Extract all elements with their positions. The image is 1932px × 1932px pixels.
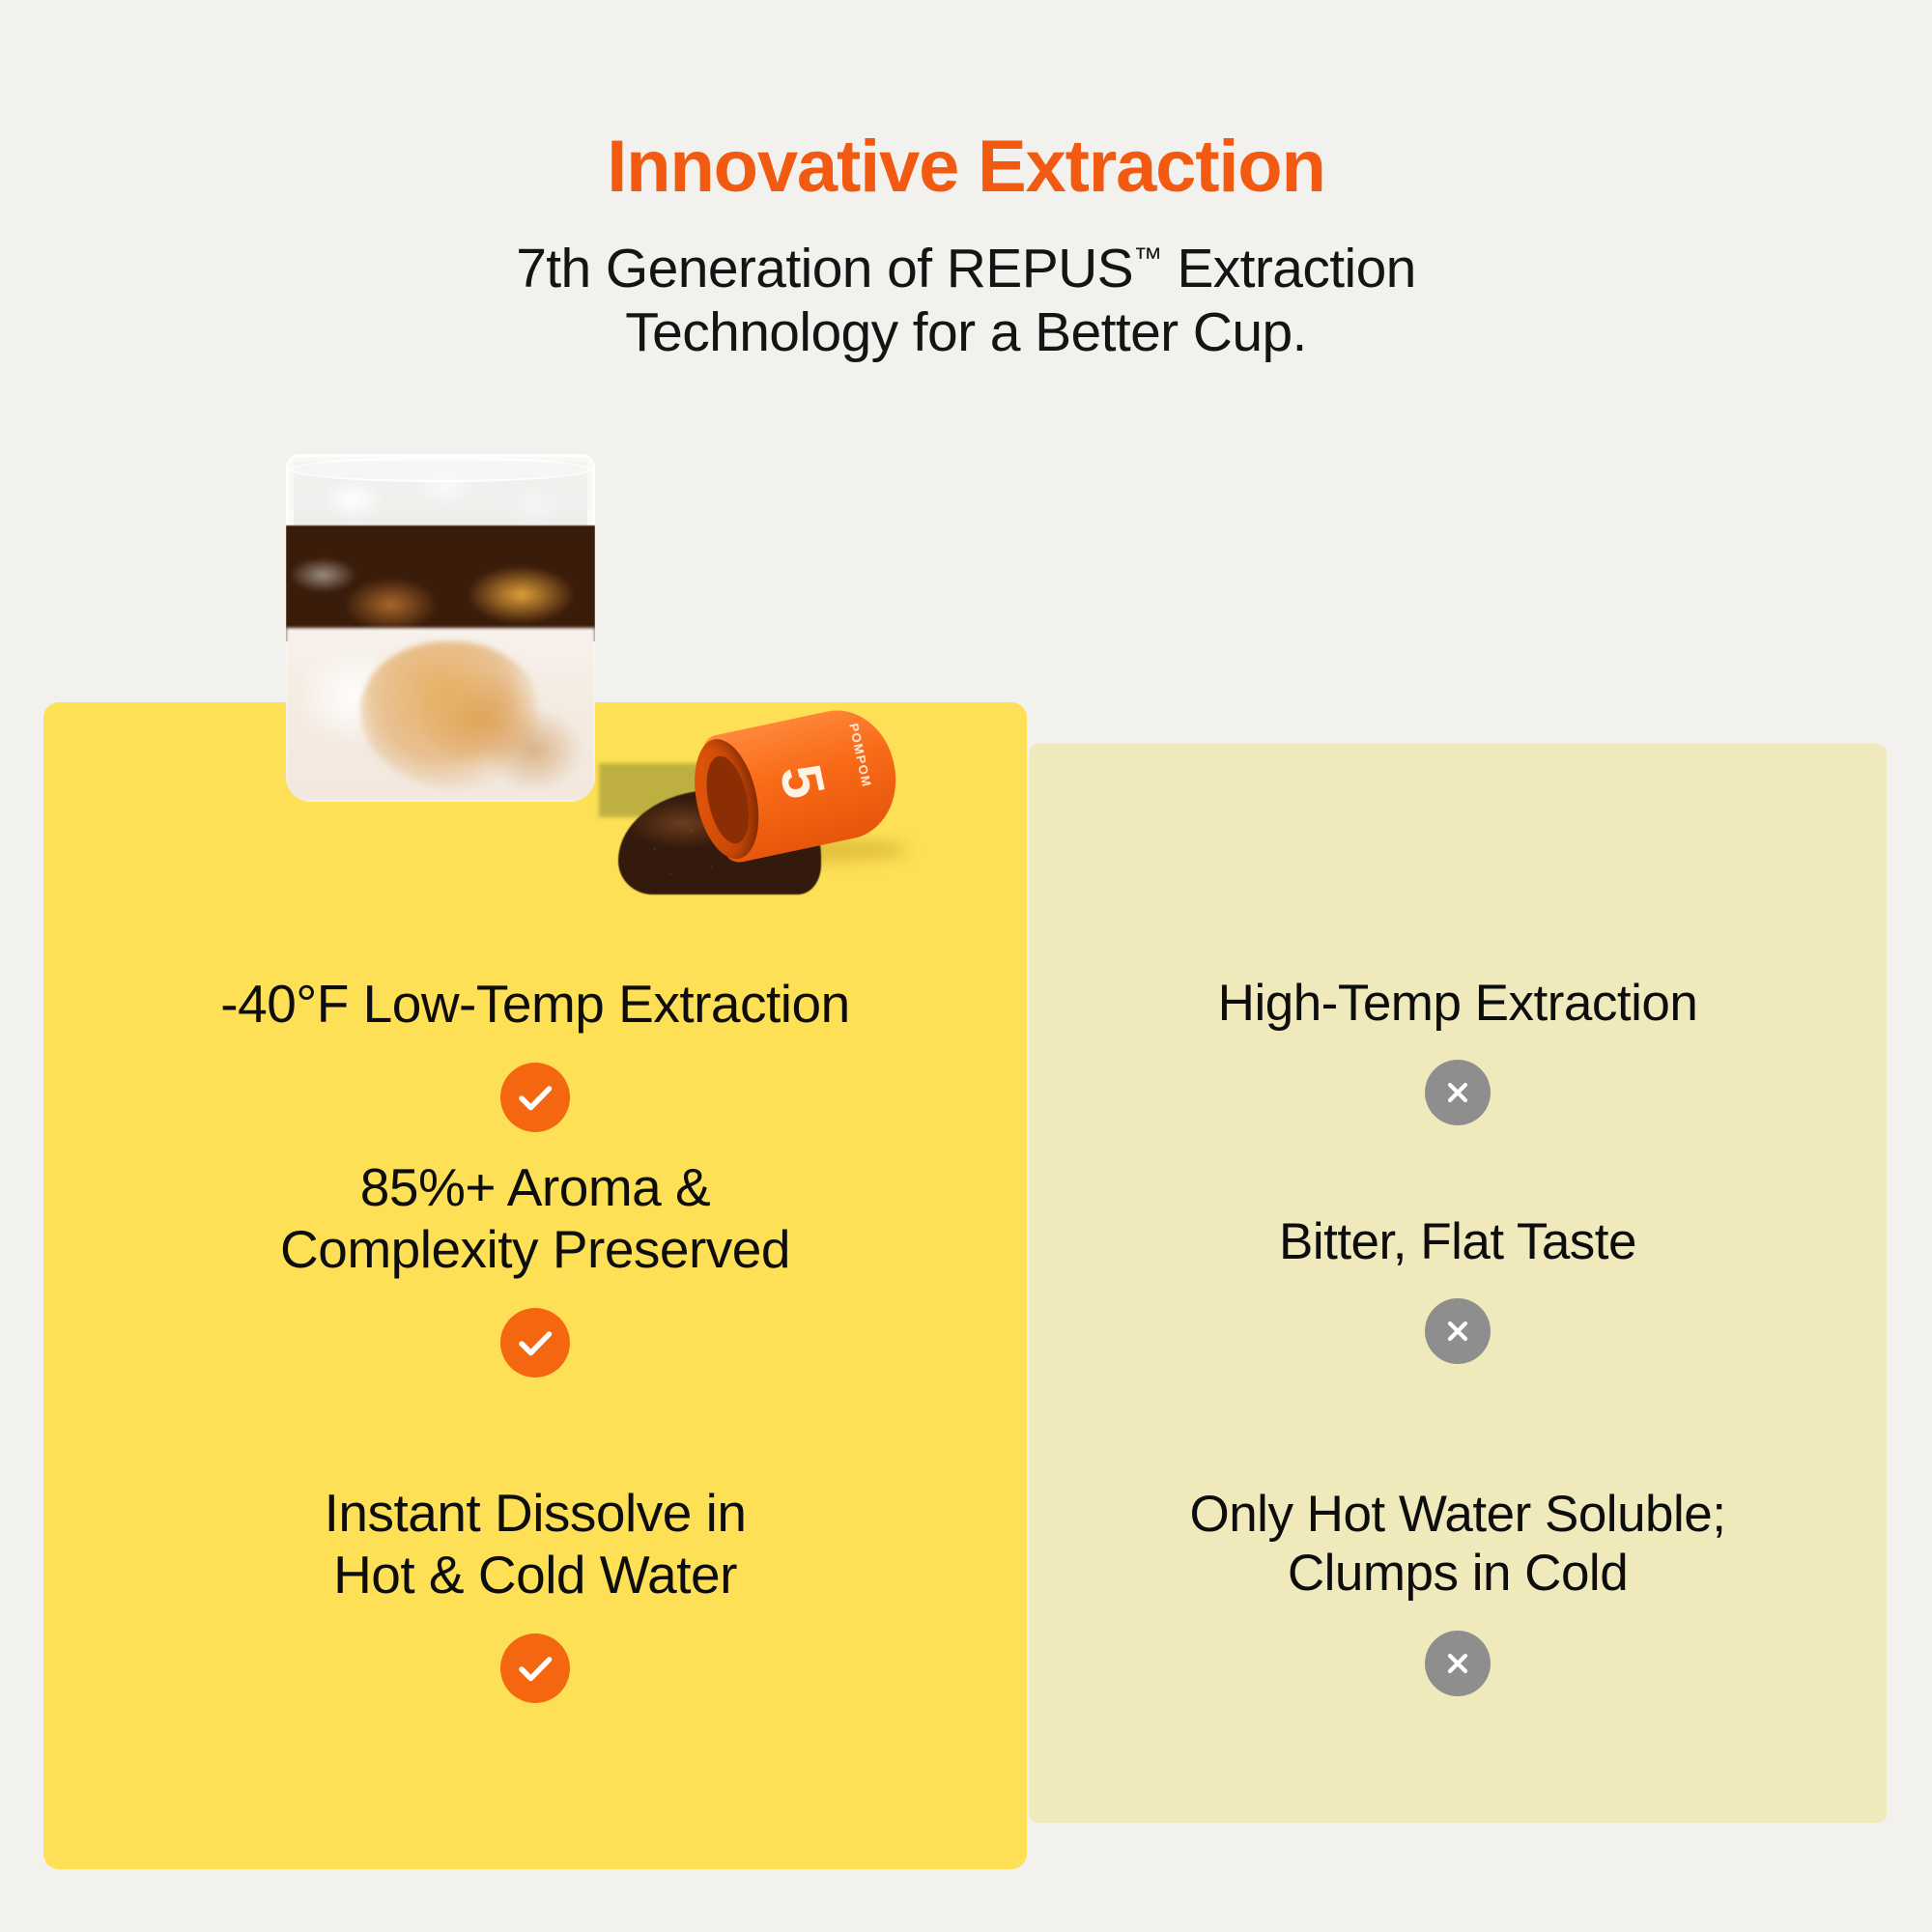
right-feature-badge-wrap-3 (1029, 1631, 1887, 1696)
right-feature-label-3: Only Hot Water Soluble; Clumps in Cold (1029, 1485, 1887, 1604)
coffee-layer-highlight (286, 526, 595, 649)
left-feature-row-2: 85%+ Aroma & Complexity Preserved (43, 1157, 1027, 1378)
right-feature-row-1: High-Temp Extraction (1029, 974, 1887, 1125)
check-icon (500, 1634, 570, 1703)
check-icon (500, 1308, 570, 1378)
left-feature-row-1: -40°F Low-Temp Extraction (43, 974, 1027, 1132)
subtitle-line2: Technology for a Better Cup. (625, 301, 1307, 363)
subtitle-line1-lead: 7th Generation of REPUS (516, 238, 1133, 299)
x-icon (1425, 1060, 1491, 1125)
trademark-symbol: ™ (1133, 242, 1162, 274)
right-feature-label-1: High-Temp Extraction (1029, 974, 1887, 1033)
right-feature-badge-wrap-2 (1029, 1298, 1887, 1364)
right-feature-badge-wrap-1 (1029, 1060, 1887, 1125)
left-feature-label-3: Instant Dissolve in Hot & Cold Water (43, 1483, 1027, 1606)
right-feature-label-2: Bitter, Flat Taste (1029, 1212, 1887, 1271)
subtitle-line1-tail: Extraction (1162, 238, 1416, 299)
glass-rim (290, 457, 591, 482)
infographic-canvas: Innovative Extraction 7th Generation of … (0, 0, 1932, 1932)
page-title: Innovative Extraction (0, 0, 1932, 204)
right-feature-row-2: Bitter, Flat Taste (1029, 1212, 1887, 1364)
left-feature-label-2: 85%+ Aroma & Complexity Preserved (43, 1157, 1027, 1281)
coffee-layer (286, 526, 595, 641)
check-icon (500, 1063, 570, 1132)
left-feature-badge-wrap-1 (43, 1063, 1027, 1132)
left-feature-row-3: Instant Dissolve in Hot & Cold Water (43, 1483, 1027, 1703)
left-feature-badge-wrap-3 (43, 1634, 1027, 1703)
x-icon (1425, 1631, 1491, 1696)
x-icon (1425, 1298, 1491, 1364)
right-feature-row-3: Only Hot Water Soluble; Clumps in Cold (1029, 1485, 1887, 1696)
left-feature-badge-wrap-2 (43, 1308, 1027, 1378)
left-feature-label-1: -40°F Low-Temp Extraction (43, 974, 1027, 1036)
header: Innovative Extraction 7th Generation of … (0, 0, 1932, 364)
page-subtitle: 7th Generation of REPUS™ ExtractionTechn… (0, 204, 1932, 364)
ice-cubes (294, 462, 587, 547)
